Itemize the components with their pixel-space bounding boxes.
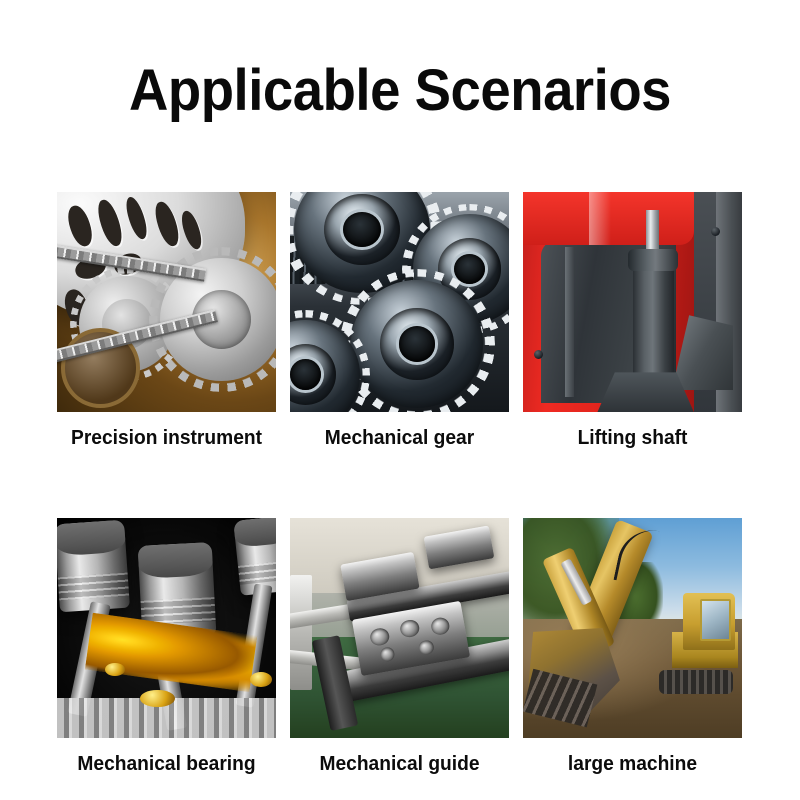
- scenario-caption: Precision instrument: [61, 426, 271, 450]
- scenario-caption: large machine: [527, 752, 737, 776]
- scenario-card-precision-instrument[interactable]: Precision instrument: [57, 192, 276, 450]
- scenario-grid-row: Precision instrument: [57, 192, 743, 450]
- scenario-grid: Precision instrument: [57, 192, 743, 776]
- highlight-gloss-shape: [589, 192, 611, 245]
- image-art: [523, 518, 742, 738]
- scenario-card-mechanical-bearing[interactable]: Mechanical bearing: [57, 518, 276, 776]
- crawler-track-shape: [659, 670, 733, 694]
- oil-droplet-shape: [250, 672, 272, 687]
- piston-oil-image[interactable]: [57, 518, 276, 738]
- oil-splash-shape: [84, 612, 257, 692]
- image-art: [290, 518, 509, 738]
- page-title: Applicable Scenarios: [24, 58, 776, 124]
- gear-chain-image[interactable]: [57, 192, 276, 412]
- lifting-shaft-image[interactable]: [523, 192, 742, 412]
- image-art: [57, 192, 276, 412]
- aluminium-frame-shape: [290, 575, 312, 689]
- scenario-caption: Mechanical bearing: [61, 752, 271, 776]
- image-art: [57, 518, 276, 738]
- cab-window-shape: [700, 599, 731, 641]
- scenario-card-mechanical-guide[interactable]: Mechanical guide: [290, 518, 509, 776]
- linear-guide-image[interactable]: [290, 518, 509, 738]
- scenario-caption: Mechanical guide: [294, 752, 504, 776]
- gear-cluster-image[interactable]: [290, 192, 509, 412]
- gear-bottom-left-shape: [290, 320, 360, 412]
- scenario-grid-row: Mechanical bearing: [57, 518, 743, 776]
- gear-center-shape: [351, 280, 482, 408]
- applicable-scenarios-page: Applicable Scenarios: [0, 0, 800, 800]
- piston-shape: [57, 520, 130, 613]
- cylinder-collar-shape: [628, 249, 678, 271]
- scenario-card-mechanical-gear[interactable]: Mechanical gear: [290, 192, 509, 450]
- scenario-card-large-machine[interactable]: large machine: [523, 518, 742, 776]
- excavator-image[interactable]: [523, 518, 742, 738]
- scenario-caption: Lifting shaft: [527, 426, 737, 450]
- scenario-caption: Mechanical gear: [294, 426, 504, 450]
- scenario-card-lifting-shaft[interactable]: Lifting shaft: [523, 192, 742, 450]
- image-art: [290, 192, 509, 412]
- image-art: [523, 192, 742, 412]
